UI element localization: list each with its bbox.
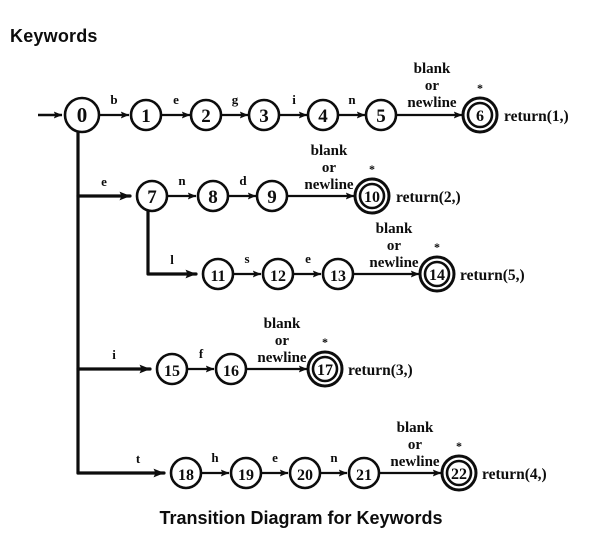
- transition-diagram-canvas: Keywords b e g i n blank or: [0, 0, 602, 549]
- return-label-1: return(1,): [504, 108, 569, 125]
- edge-label-n3: n: [330, 450, 338, 465]
- edge-label-newline-5: newline: [390, 454, 440, 470]
- state-0-label: 0: [77, 103, 88, 127]
- accepting-star-17: *: [322, 335, 328, 349]
- figure-caption: Transition Diagram for Keywords: [0, 508, 602, 529]
- edge-label-blank-2: blank: [311, 143, 348, 159]
- edge-label-e4: e: [272, 450, 278, 465]
- return-label-5: return(5,): [460, 267, 525, 284]
- edge-label-b: b: [110, 92, 117, 107]
- state-9-label: 9: [267, 187, 277, 208]
- state-18-label: 18: [178, 467, 194, 484]
- accepting-star-14: *: [434, 240, 440, 254]
- state-12-label: 12: [270, 268, 286, 285]
- return-label-2: return(2,): [396, 189, 461, 206]
- edge-label-n2: n: [178, 173, 186, 188]
- edge-label-or-3: or: [387, 238, 402, 254]
- edge-label-blank-1: blank: [414, 61, 451, 77]
- edge-label-h: h: [211, 450, 219, 465]
- state-21-label: 21: [356, 467, 372, 484]
- accepting-star-22: *: [456, 439, 462, 453]
- edge-label-or-4: or: [275, 333, 290, 349]
- state-7-label: 7: [147, 187, 157, 208]
- state-10-label: 10: [364, 189, 380, 206]
- edge-label-newline-1: newline: [407, 95, 457, 111]
- state-4-label: 4: [318, 106, 328, 127]
- edge-label-i2: i: [112, 347, 116, 362]
- edge-label-e1: e: [173, 92, 179, 107]
- edge-label-l: l: [170, 252, 174, 267]
- edge-label-blank-3: blank: [376, 221, 413, 237]
- return-label-4: return(4,): [482, 466, 547, 483]
- accepting-star-6: *: [477, 81, 483, 95]
- state-17-label: 17: [317, 362, 333, 379]
- edge-label-t: t: [136, 451, 141, 466]
- edge-label-blank-5: blank: [397, 420, 434, 436]
- state-13-label: 13: [330, 268, 346, 285]
- edge-label-newline-2: newline: [304, 177, 354, 193]
- row-then: h e n blank or newline 18 19 20 21 22 * …: [171, 420, 547, 490]
- state-14-label: 14: [429, 267, 445, 284]
- state-16-label: 16: [223, 363, 239, 380]
- row-if: f blank or newline 15 16 17 * return(3,): [157, 316, 413, 386]
- edge-label-or-5: or: [408, 437, 423, 453]
- state-6-label: 6: [476, 108, 484, 125]
- state-20-label: 20: [297, 467, 313, 484]
- state-19-label: 19: [238, 467, 254, 484]
- accepting-star-10: *: [369, 162, 375, 176]
- state-3-label: 3: [259, 106, 269, 127]
- state-2-label: 2: [201, 106, 211, 127]
- edge-label-or-2: or: [322, 160, 337, 176]
- edge-label-blank-4: blank: [264, 316, 301, 332]
- edge-label-n1: n: [348, 92, 356, 107]
- state-8-label: 8: [208, 187, 218, 208]
- state-22-label: 22: [451, 466, 467, 483]
- state-1-label: 1: [141, 106, 151, 127]
- edge-label-newline-3: newline: [369, 255, 419, 271]
- edge-label-g: g: [232, 92, 239, 107]
- edge-label-newline-4: newline: [257, 350, 307, 366]
- state-11-label: 11: [210, 268, 225, 285]
- edge-label-or-1: or: [425, 78, 440, 94]
- edge-label-e2: e: [101, 174, 107, 189]
- transition-diagram-svg: b e g i n blank or newline 0 1 2 3 4: [0, 0, 602, 549]
- state-15-label: 15: [164, 363, 180, 380]
- return-label-3: return(3,): [348, 362, 413, 379]
- row-end: n d blank or newline 7 8 9 10 * return(2…: [137, 143, 461, 213]
- edge-label-f: f: [199, 346, 204, 361]
- row-begin: b e g i n blank or newline 0 1 2 3 4: [38, 61, 569, 132]
- edge-label-e3: e: [305, 251, 311, 266]
- edge-label-i1: i: [292, 92, 296, 107]
- state-5-label: 5: [376, 106, 386, 127]
- edge-label-s: s: [244, 251, 249, 266]
- row-else: l s e blank or newline 11 12 13 14 * ret…: [148, 211, 525, 291]
- edge-label-d: d: [239, 173, 247, 188]
